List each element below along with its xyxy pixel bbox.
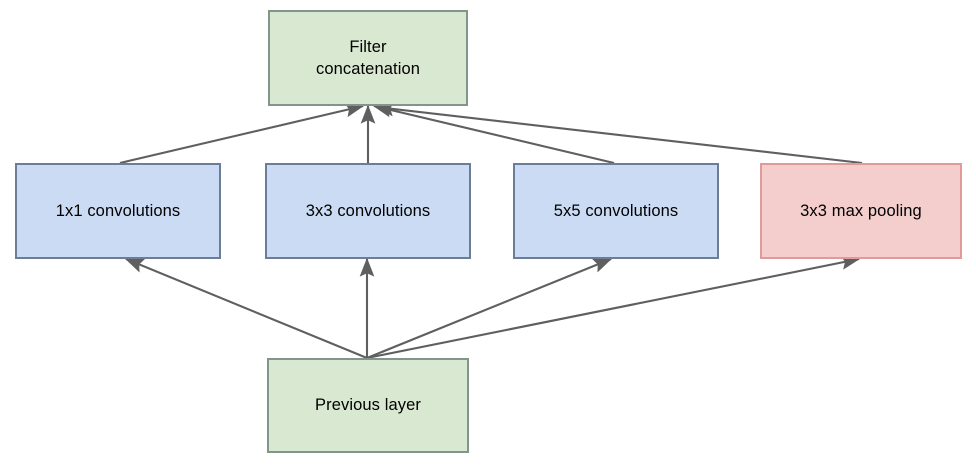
edge-prev-to-pool [367,259,859,358]
node-label-previous-layer: Previous layer [315,394,421,416]
edge-pool-to-concat [376,107,862,163]
node-conv-5x5[interactable]: 5x5 convolutions [513,163,719,259]
diagram-canvas: Filter concatenation 1x1 convolutions 3x… [0,0,976,466]
node-label-conv-5x5: 5x5 convolutions [554,200,679,222]
edge-prev-to-5x5 [367,259,611,358]
node-label-conv-3x3: 3x3 convolutions [306,200,431,222]
node-label-maxpool-3x3: 3x3 max pooling [800,200,922,222]
edge-c5x5-to-concat [374,106,614,163]
node-previous-layer[interactable]: Previous layer [267,358,469,453]
edge-prev-to-1x1 [126,259,367,358]
node-maxpool-3x3[interactable]: 3x3 max pooling [760,163,962,259]
edge-c1x1-to-concat [120,106,363,163]
node-conv-3x3[interactable]: 3x3 convolutions [265,163,471,259]
node-filter-concatenation[interactable]: Filter concatenation [268,10,468,106]
node-label-filter-concatenation: Filter concatenation [316,36,420,81]
node-label-conv-1x1: 1x1 convolutions [56,200,181,222]
node-conv-1x1[interactable]: 1x1 convolutions [15,163,221,259]
